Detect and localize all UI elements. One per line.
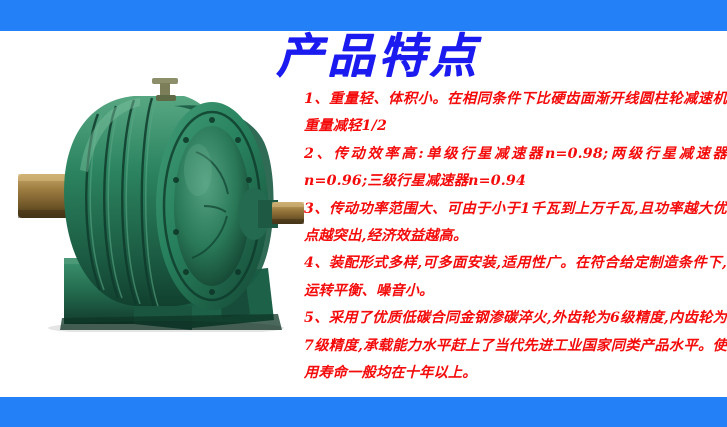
input-shaft — [18, 174, 72, 218]
feature-item-5: 5、采用了优质低碳合同金钢渗碳淬火,外齿轮为6级精度,内齿轮为7级精度,承载能力… — [304, 305, 727, 387]
feature-item-2: 2、传动效率高:单级行星减速器n=0.98;两级行星减速器n=0.96;三级行星… — [304, 141, 727, 196]
product-image-planetary-gear-reducer — [6, 62, 306, 332]
feature-item-1: 1、重量轻、体积小。在相同条件下比硬齿面渐开线圆柱轮减速机重量减轻1/2 — [304, 86, 727, 141]
feature-item-3: 3、传动功率范围大、可由于小于1千瓦到上万千瓦,且功率越大优点越突出,经济效益越… — [304, 196, 727, 251]
top-accent-bar — [0, 0, 727, 31]
feature-item-4: 4、装配形式多样,可多面安装,适用性广。在符合给定制造条件下,运转平衡、噪音小。 — [304, 250, 727, 305]
bottom-accent-bar — [0, 397, 727, 427]
product-feature-banner: 产品特点 1、重量轻、体积小。在相同条件下比硬齿面渐开线圆柱轮减速机重量减轻1/… — [0, 0, 727, 427]
page-title: 产品特点 — [276, 29, 486, 85]
feature-list: 1、重量轻、体积小。在相同条件下比硬齿面渐开线圆柱轮减速机重量减轻1/2 2、传… — [304, 86, 727, 387]
